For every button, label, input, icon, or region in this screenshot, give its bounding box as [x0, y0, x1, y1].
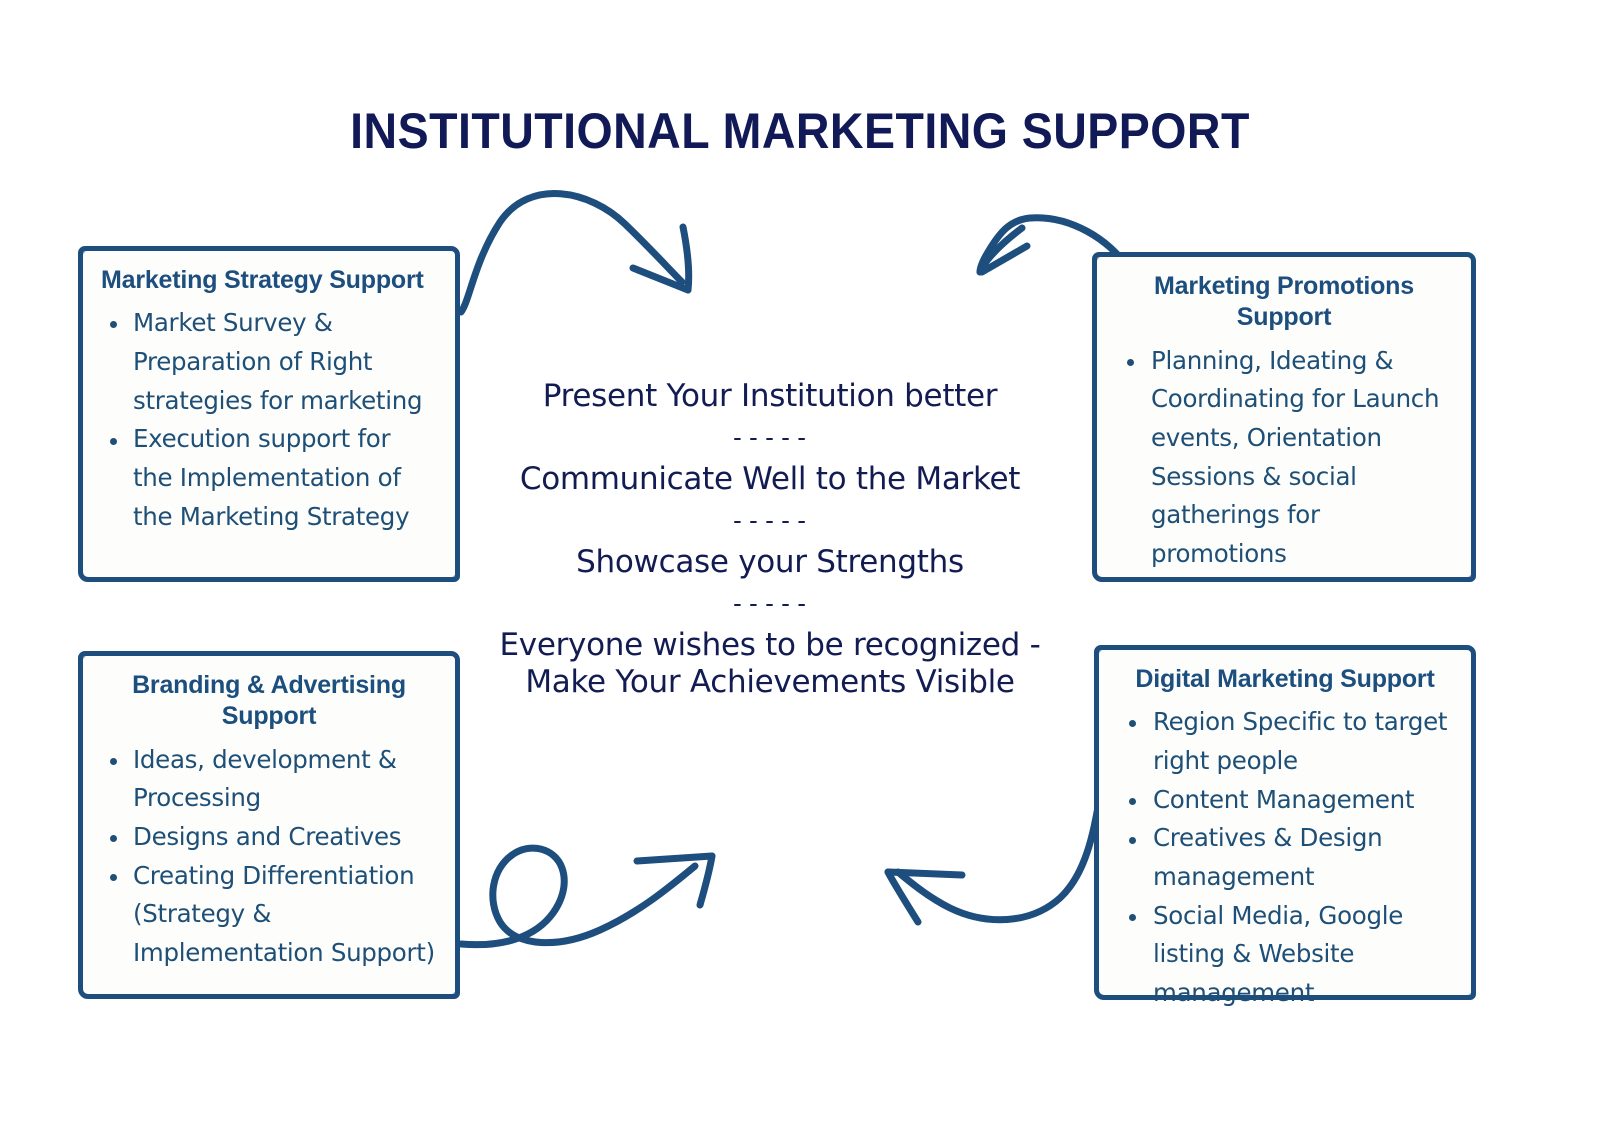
card-title: Marketing Strategy Support	[101, 265, 437, 296]
card-branding-advertising-support[interactable]: Branding & Advertising Support Ideas, de…	[78, 651, 460, 999]
card-digital-marketing-support[interactable]: Digital Marketing Support Region Specifi…	[1094, 645, 1476, 1000]
list-item: Content Management	[1117, 781, 1453, 820]
list-item: Ideas, development & Processing	[101, 741, 437, 818]
arrow-bottom-left	[461, 848, 712, 945]
bullet-icon	[1129, 914, 1136, 921]
list-item: Region Specific to target right people	[1117, 703, 1453, 780]
center-line-1: Present Your Institution better	[460, 378, 1080, 415]
card-bullet-list: Region Specific to target right people C…	[1117, 703, 1453, 1013]
list-item: Creatives & Design management	[1117, 819, 1453, 896]
bullet-icon	[1127, 359, 1134, 366]
card-bullet-list: Market Survey & Preparation of Right str…	[101, 304, 437, 536]
center-message-block: Present Your Institution better ----- Co…	[460, 378, 1080, 700]
card-marketing-promotions-support[interactable]: Marketing Promotions Support Planning, I…	[1092, 252, 1476, 582]
card-title: Digital Marketing Support	[1117, 664, 1453, 695]
page-title: INSTITUTIONAL MARKETING SUPPORT	[56, 102, 1544, 160]
bullet-icon	[110, 438, 117, 445]
card-title: Marketing Promotions Support	[1115, 271, 1453, 334]
diagram-canvas: INSTITUTIONAL MARKETING SUPPORT	[0, 0, 1600, 1130]
list-item-label: Market Survey & Preparation of Right str…	[133, 308, 422, 414]
list-item-label: Creatives & Design management	[1153, 823, 1382, 891]
list-item-label: Social Media, Google listing & Website m…	[1153, 901, 1403, 1007]
center-separator-2: -----	[460, 507, 1080, 535]
list-item-label: Planning, Ideating & Coordinating for La…	[1151, 346, 1439, 569]
list-item: Social Media, Google listing & Website m…	[1117, 897, 1453, 1013]
card-title: Branding & Advertising Support	[101, 670, 437, 733]
list-item-label: Execution support for the Implementation…	[133, 424, 409, 530]
bullet-icon	[1129, 837, 1136, 844]
list-item: Market Survey & Preparation of Right str…	[101, 304, 437, 420]
arrow-top-left	[461, 194, 689, 312]
list-item: Execution support for the Implementation…	[101, 420, 437, 536]
center-line-4: Everyone wishes to be recognized - Make …	[460, 627, 1080, 700]
list-item: Creating Differentiation (Strategy & Imp…	[101, 857, 437, 973]
card-bullet-list: Planning, Ideating & Coordinating for La…	[1115, 342, 1453, 574]
bullet-icon	[1129, 720, 1136, 727]
bullet-icon	[110, 835, 117, 842]
center-separator-3: -----	[460, 590, 1080, 618]
arrow-bottom-right	[888, 786, 1102, 922]
card-marketing-strategy-support[interactable]: Marketing Strategy Support Market Survey…	[78, 246, 460, 582]
center-line-3: Showcase your Strengths	[460, 544, 1080, 581]
list-item-label: Content Management	[1153, 785, 1414, 814]
card-bullet-list: Ideas, development & Processing Designs …	[101, 741, 437, 973]
bullet-icon	[110, 874, 117, 881]
list-item-label: Region Specific to target right people	[1153, 707, 1447, 775]
bullet-icon	[1129, 798, 1136, 805]
list-item-label: Designs and Creatives	[133, 822, 401, 851]
list-item-label: Creating Differentiation (Strategy & Imp…	[133, 861, 435, 967]
bullet-icon	[110, 758, 117, 765]
list-item: Designs and Creatives	[101, 818, 437, 857]
list-item-label: Ideas, development & Processing	[133, 745, 397, 813]
center-separator-1: -----	[460, 424, 1080, 452]
center-line-2: Communicate Well to the Market	[460, 461, 1080, 498]
bullet-icon	[110, 321, 117, 328]
list-item: Planning, Ideating & Coordinating for La…	[1115, 342, 1453, 574]
